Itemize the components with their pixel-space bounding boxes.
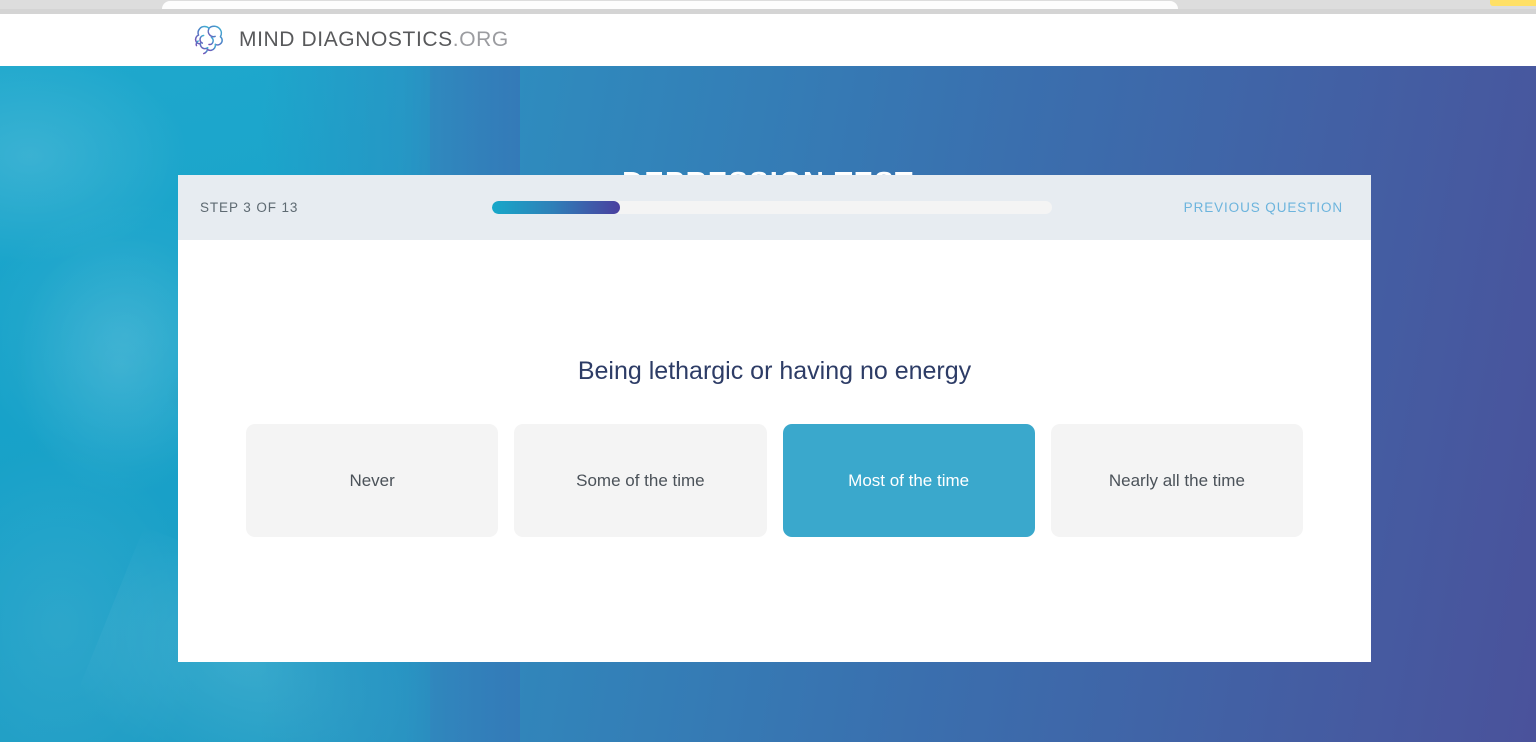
brand-name: MIND DIAGNOSTICS.ORG bbox=[239, 28, 509, 52]
progress-track bbox=[492, 201, 1052, 214]
progress-bar-container bbox=[492, 201, 1052, 214]
browser-notification-bar[interactable] bbox=[1490, 0, 1536, 6]
previous-question-link[interactable]: PREVIOUS QUESTION bbox=[1052, 200, 1344, 215]
quiz-body: Being lethargic or having no energy Neve… bbox=[178, 240, 1371, 662]
question-text: Being lethargic or having no energy bbox=[178, 357, 1371, 386]
site-header: MIND DIAGNOSTICS.ORG bbox=[0, 14, 1536, 66]
quiz-card: STEP 3 OF 13 PREVIOUS QUESTION Being let… bbox=[178, 175, 1371, 662]
quiz-progress-header: STEP 3 OF 13 PREVIOUS QUESTION bbox=[178, 175, 1371, 240]
answer-option-3[interactable]: Nearly all the time bbox=[1051, 424, 1303, 537]
site-logo[interactable]: MIND DIAGNOSTICS.ORG bbox=[190, 24, 509, 56]
answer-option-1[interactable]: Some of the time bbox=[514, 424, 766, 537]
brain-icon bbox=[190, 24, 228, 56]
browser-chrome-strip bbox=[0, 0, 1536, 14]
answer-option-0[interactable]: Never bbox=[246, 424, 498, 537]
answer-options: NeverSome of the timeMost of the timeNea… bbox=[246, 424, 1303, 537]
step-indicator: STEP 3 OF 13 bbox=[200, 200, 492, 215]
progress-fill bbox=[492, 201, 621, 214]
brand-name-tld: .ORG bbox=[453, 28, 509, 51]
answer-option-2[interactable]: Most of the time bbox=[783, 424, 1035, 537]
browser-tab[interactable] bbox=[162, 1, 1178, 9]
brand-name-main: MIND DIAGNOSTICS bbox=[239, 28, 453, 51]
